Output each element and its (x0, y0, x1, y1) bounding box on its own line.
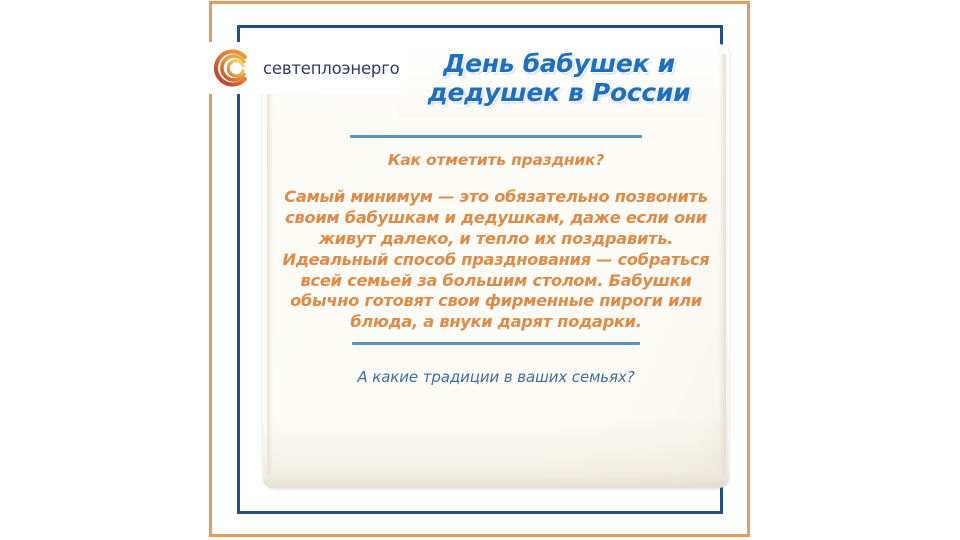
divider-bottom (352, 342, 640, 345)
card-body-text: Самый минимум — это обязательно позвонит… (280, 187, 712, 333)
card-body: Как отметить праздник? Самый минимум — э… (263, 118, 729, 488)
title-panel: День бабушек и дедушек в России (399, 38, 719, 118)
poster-canvas: Как отметить праздник? Самый минимум — э… (0, 0, 960, 540)
card-subtitle: Как отметить праздник? (388, 151, 604, 169)
brand-logo-block: севтеплоэнерго (205, 42, 407, 94)
divider-top (350, 135, 642, 138)
page-title: День бабушек и дедушек в России (428, 49, 691, 107)
brand-wordmark: севтеплоэнерго (263, 59, 400, 78)
spiral-c-logo-icon (209, 45, 255, 91)
card-closing-question: А какие традиции в ваших семьях? (357, 368, 634, 386)
